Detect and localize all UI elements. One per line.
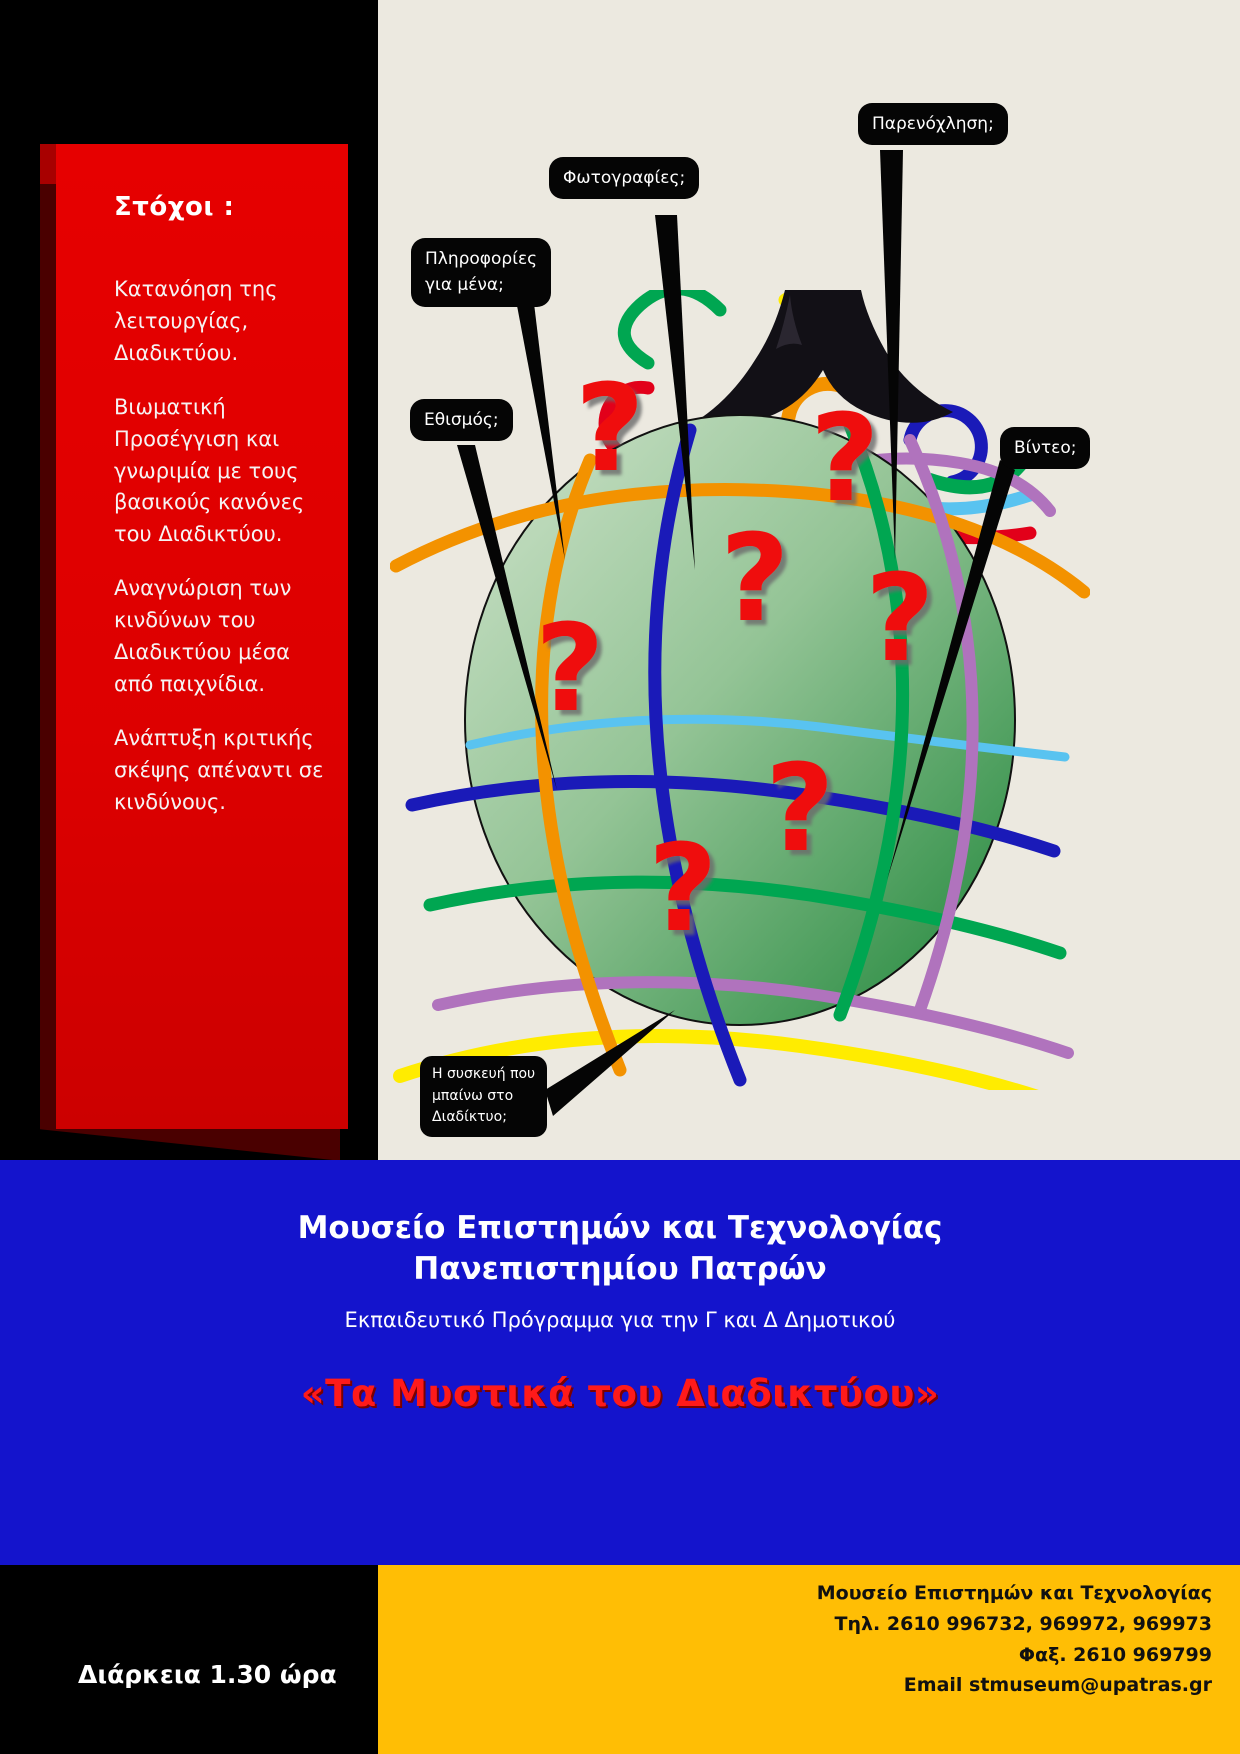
stem-addiction [457, 445, 557, 790]
goals-title: Στόχοι : [114, 192, 324, 222]
contact-fax: Φαξ. 2610 969799 [572, 1640, 1212, 1671]
footer-blue-band: Μουσείο Επιστημών και Τεχνολογίας Πανεπι… [0, 1160, 1240, 1565]
duration-label: Διάρκεια 1.30 ώρα [78, 1660, 337, 1689]
stem-video [887, 460, 1015, 880]
poster-root: Στόχοι : Κατανόηση της λειτουργίας, Διαδ… [0, 0, 1240, 1754]
contact-phone: Τηλ. 2610 996732, 969972, 969973 [572, 1609, 1212, 1640]
bubble-device[interactable]: Η συσκευή που μπαίνω στο Διαδίκτυο; [420, 1056, 547, 1137]
bubble-stems [375, 0, 1240, 1160]
bubble-addiction[interactable]: Εθισμός; [410, 399, 513, 441]
contact-block: Μουσείο Επιστημών και Τεχνολογίας Τηλ. 2… [572, 1578, 1212, 1701]
bubble-photos[interactable]: Φωτογραφίες; [549, 157, 699, 199]
museum-title: Μουσείο Επιστημών και Τεχνολογίας Πανεπι… [0, 1208, 1240, 1290]
goal-item-3: Αναγνώριση των κινδύνων του Διαδικτύου μ… [114, 573, 324, 701]
stem-harassment [880, 150, 903, 560]
bubble-video[interactable]: Βίντεο; [1000, 427, 1090, 469]
goal-item-4: Ανάπτυξη κριτικής σκέψης απέναντι σε κιν… [114, 723, 324, 819]
contact-email[interactable]: Email stmuseum@upatras.gr [572, 1670, 1212, 1701]
goals-content: Στόχοι : Κατανόηση της λειτουργίας, Διαδ… [56, 144, 348, 1129]
main-slogan: «Τα Μυστικά του Διαδικτύου» [0, 1372, 1240, 1415]
museum-title-line1: Μουσείο Επιστημών και Τεχνολογίας [0, 1208, 1240, 1249]
program-subtitle: Εκπαιδευτικό Πρόγραμμα για την Γ και Δ Δ… [0, 1308, 1240, 1332]
stem-photos [655, 215, 695, 570]
museum-title-line2: Πανεπιστημίου Πατρών [0, 1249, 1240, 1290]
stem-info [515, 295, 565, 560]
goal-item-2: Βιωματική Προσέγγιση και γνωριμία με του… [114, 392, 324, 552]
contact-name: Μουσείο Επιστημών και Τεχνολογίας [572, 1578, 1212, 1609]
bubble-harassment[interactable]: Παρενόχληση; [858, 103, 1008, 145]
stem-device [545, 1010, 675, 1116]
bubble-info-about-me[interactable]: Πληροφορίες για μένα; [411, 238, 551, 307]
goal-item-1: Κατανόηση της λειτουργίας, Διαδικτύου. [114, 274, 324, 370]
